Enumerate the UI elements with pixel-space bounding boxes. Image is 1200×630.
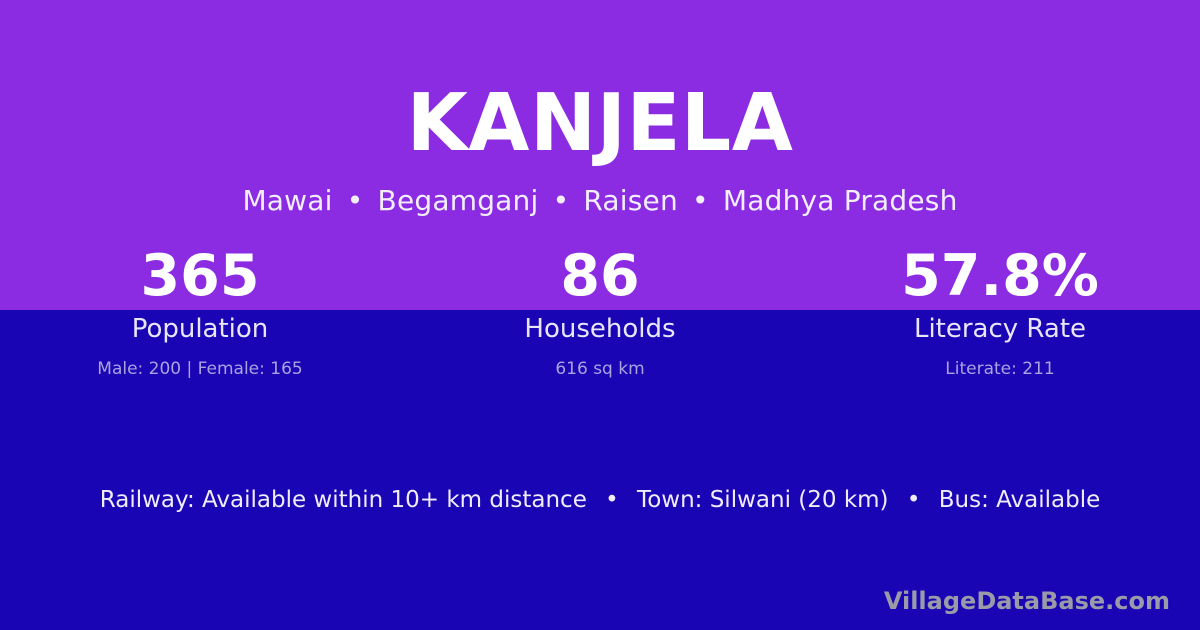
amenity-separator: •: [594, 487, 630, 513]
stat-block-households: 86 Households 616 sq km: [400, 243, 800, 380]
breadcrumb-part-block: Mawai: [242, 184, 332, 217]
stat-block-literacy: 57.8% Literacy Rate Literate: 211: [800, 243, 1200, 380]
stat-label-households: Households: [400, 309, 800, 345]
stat-sub-households: 616 sq km: [400, 345, 800, 380]
site-watermark: VillageDataBase.com: [884, 586, 1170, 616]
village-info-card: KANJELA Mawai • Begamganj • Raisen • Mad…: [0, 0, 1200, 630]
breadcrumb: Mawai • Begamganj • Raisen • Madhya Prad…: [0, 163, 1200, 215]
amenity-town: Town: Silwani (20 km): [637, 487, 888, 513]
stats-row: 365 Population Male: 200 | Female: 165 8…: [0, 243, 1200, 380]
page-title: KANJELA: [0, 0, 1200, 163]
stat-value-population: 365: [0, 243, 400, 309]
breadcrumb-part-state: Madhya Pradesh: [723, 184, 958, 217]
amenity-railway: Railway: Available within 10+ km distanc…: [100, 487, 587, 513]
breadcrumb-separator: •: [342, 184, 369, 217]
amenities-line: Railway: Available within 10+ km distanc…: [0, 485, 1200, 515]
breadcrumb-part-district: Raisen: [583, 184, 678, 217]
stat-value-households: 86: [400, 243, 800, 309]
stat-sub-population: Male: 200 | Female: 165: [0, 345, 400, 380]
breadcrumb-separator: •: [548, 184, 575, 217]
stat-value-literacy: 57.8%: [800, 243, 1200, 309]
stat-label-population: Population: [0, 309, 400, 345]
stat-sub-literacy: Literate: 211: [800, 345, 1200, 380]
breadcrumb-separator: •: [687, 184, 714, 217]
stat-block-population: 365 Population Male: 200 | Female: 165: [0, 243, 400, 380]
stat-label-literacy: Literacy Rate: [800, 309, 1200, 345]
breadcrumb-part-subdistrict: Begamganj: [378, 184, 539, 217]
amenity-bus: Bus: Available: [939, 487, 1101, 513]
card-header: KANJELA Mawai • Begamganj • Raisen • Mad…: [0, 0, 1200, 215]
amenity-separator: •: [896, 487, 932, 513]
